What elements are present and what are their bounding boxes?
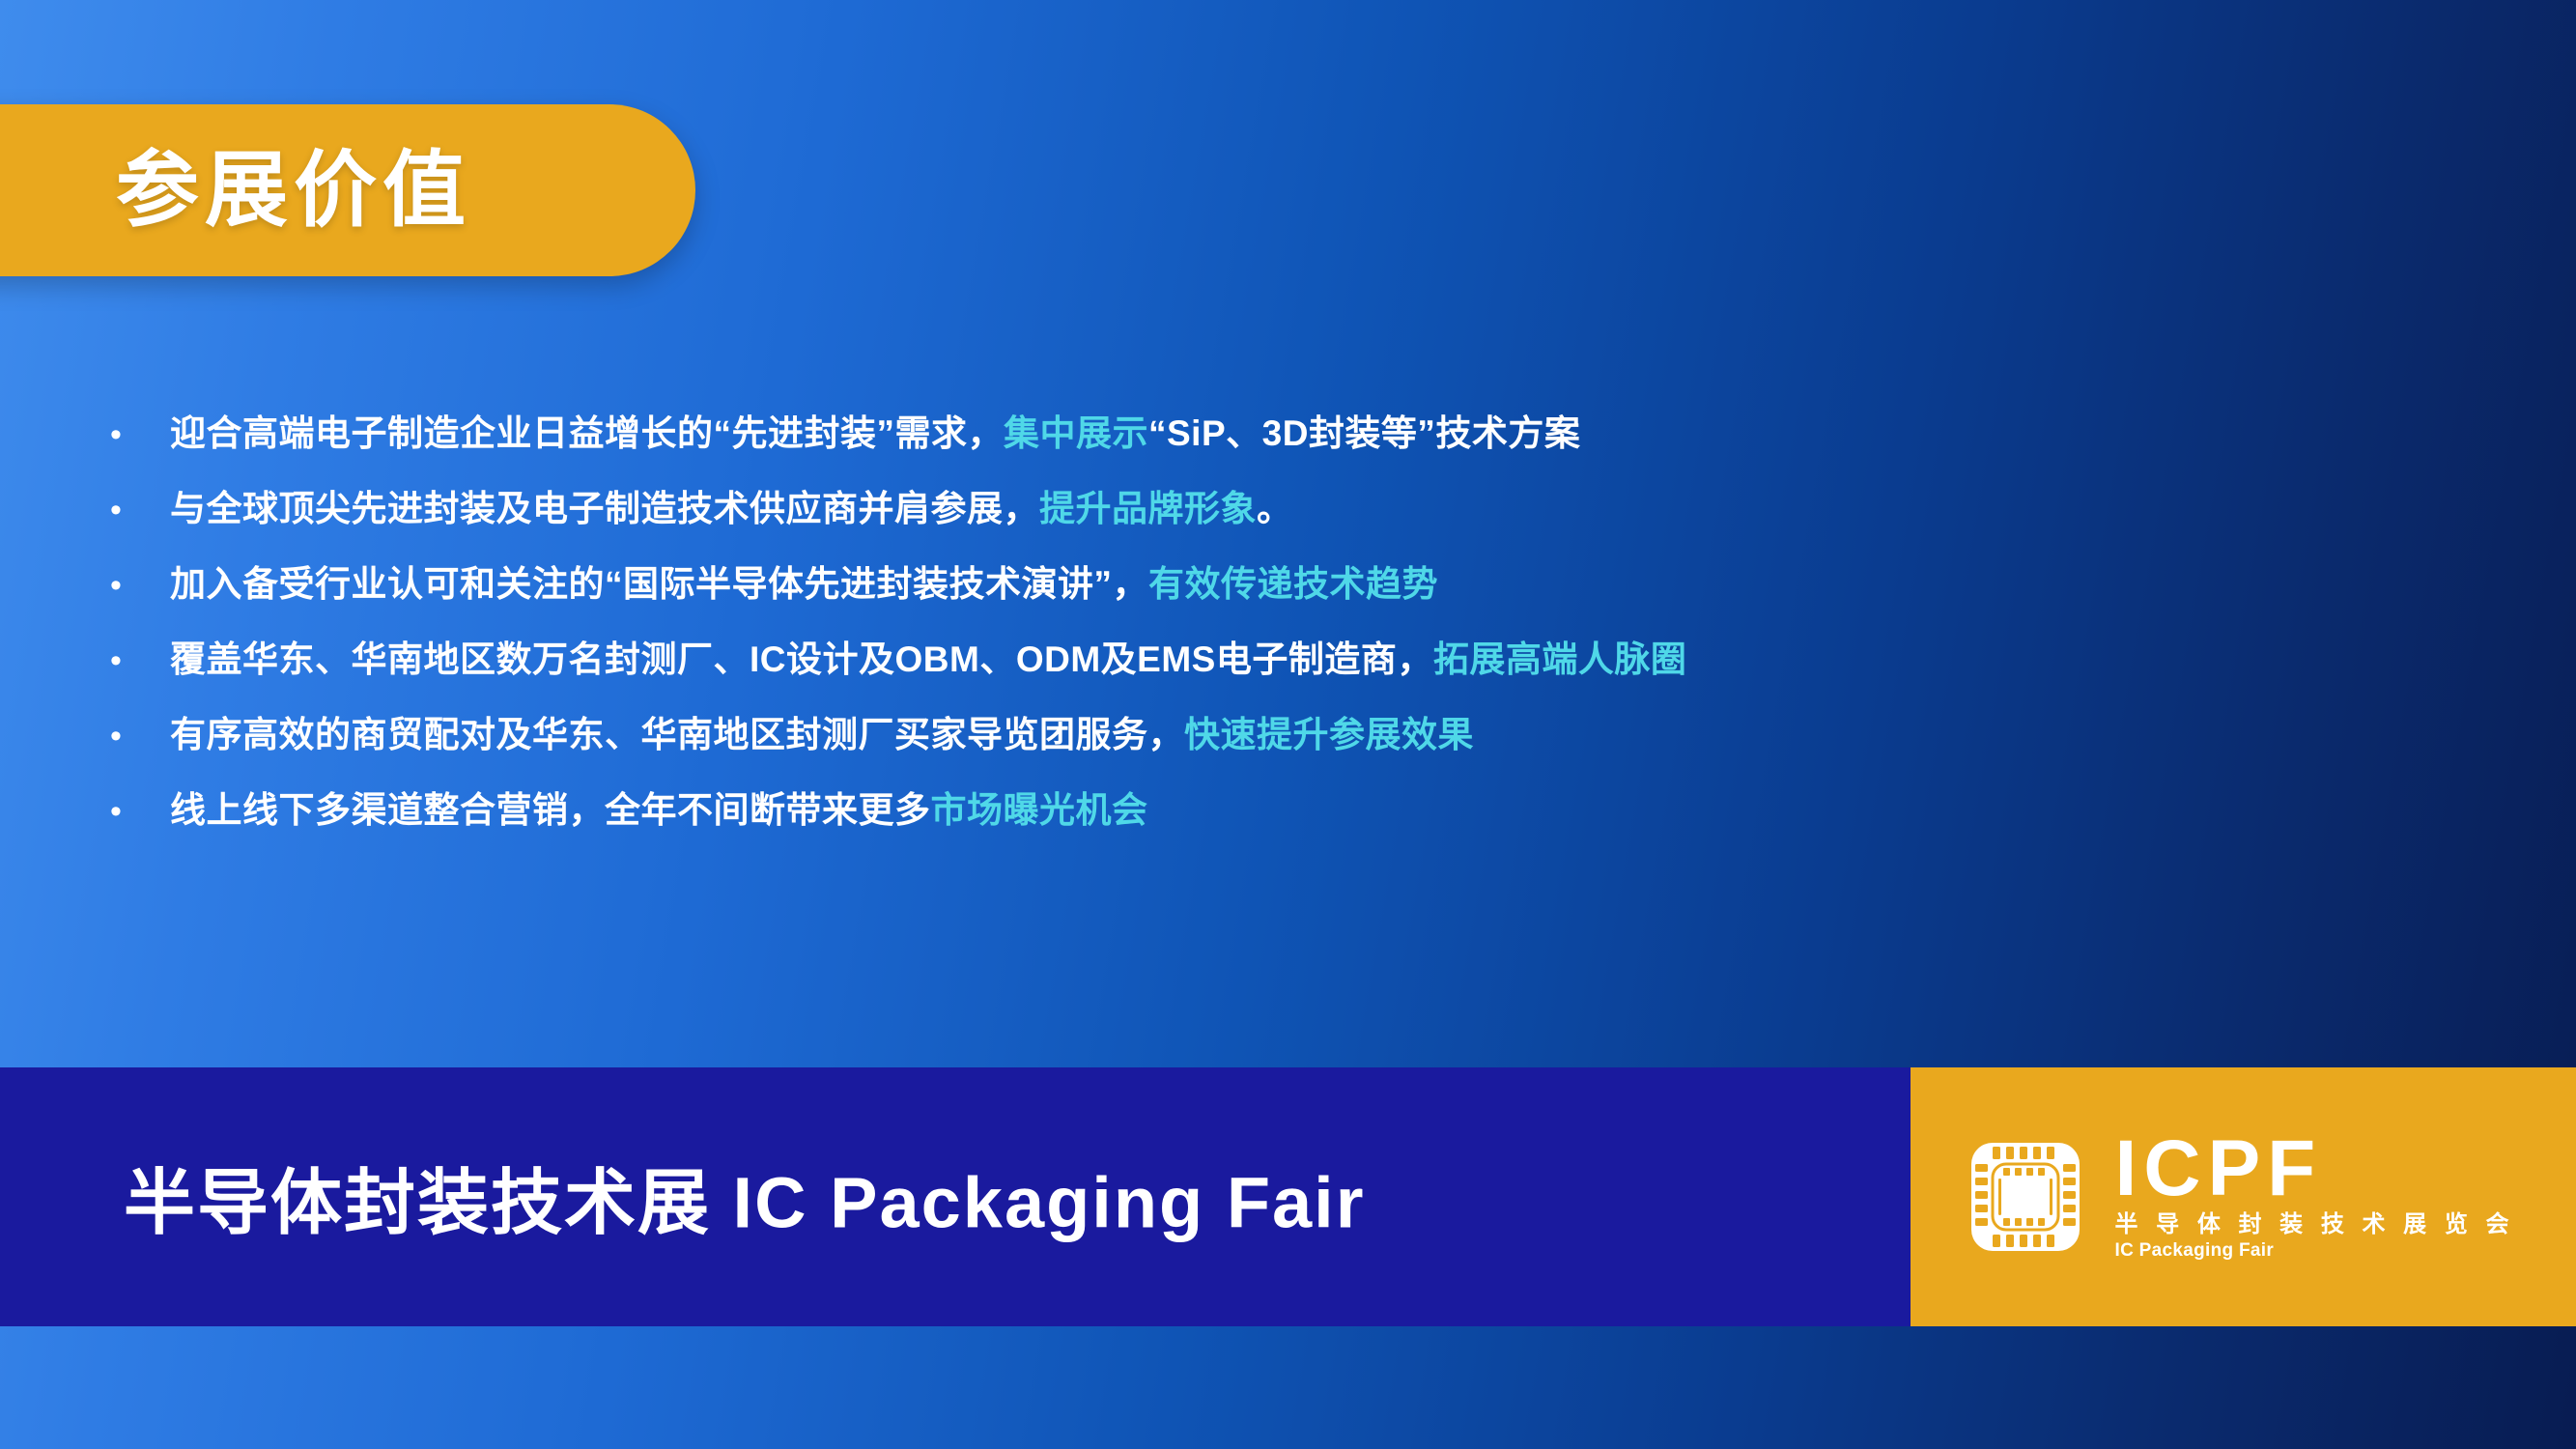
list-item: •加入备受行业认可和关注的“国际半导体先进封装技术演讲”，有效传递技术趋势 xyxy=(104,560,2355,614)
footer-title-band: 半导体封装技术展 IC Packaging Fair xyxy=(0,1067,1911,1326)
list-item: •有序高效的商贸配对及华东、华南地区封测厂买家导览团服务，快速提升参展效果 xyxy=(104,711,2355,765)
list-item: •线上线下多渠道整合营销，全年不间断带来更多市场曝光机会 xyxy=(104,786,2355,840)
list-item-text: 线上线下多渠道整合营销，全年不间断带来更多市场曝光机会 xyxy=(170,786,1148,835)
logo-name-cn: 半 导 体 封 装 技 术 展 览 会 xyxy=(2114,1212,2514,1237)
bullet-marker-icon: • xyxy=(104,494,170,526)
logo-wordmark: ICPF xyxy=(2114,1132,2514,1205)
plain-text: 有序高效的商贸配对及华东、华南地区封测厂买家导览团服务， xyxy=(170,715,1184,754)
list-item-text: 与全球顶尖先进封装及电子制造技术供应商并肩参展，提升品牌形象。 xyxy=(170,485,1293,533)
bullet-marker-icon: • xyxy=(104,795,170,828)
list-item-text: 迎合高端电子制造企业日益增长的“先进封装”需求，集中展示“SiP、3D封装等”技… xyxy=(170,410,1580,458)
plain-text: 。 xyxy=(1257,489,1293,528)
plain-text: 线上线下多渠道整合营销，全年不间断带来更多 xyxy=(170,790,931,830)
highlighted-text: 拓展高端人脉圈 xyxy=(1433,639,1687,679)
exhibitor-value-list: •迎合高端电子制造企业日益增长的“先进封装”需求，集中展示“SiP、3D封装等”… xyxy=(104,410,2355,862)
footer-bar: 半导体封装技术展 IC Packaging Fair xyxy=(0,1067,2576,1326)
page-title: 参展价值 xyxy=(116,149,471,232)
highlighted-text: 市场曝光机会 xyxy=(931,790,1148,830)
list-item: •与全球顶尖先进封装及电子制造技术供应商并肩参展，提升品牌形象。 xyxy=(104,485,2355,539)
plain-text: “SiP、3D封装等”技术方案 xyxy=(1148,413,1580,453)
footer-logo-block: ICPF 半 导 体 封 装 技 术 展 览 会 IC Packaging Fa… xyxy=(1911,1067,2576,1326)
plain-text: 加入备受行业认可和关注的“国际半导体先进封装技术演讲”， xyxy=(170,564,1148,604)
plain-text: 覆盖华东、华南地区数万名封测厂、IC设计及OBM、ODM及EMS电子制造商， xyxy=(170,639,1433,679)
highlighted-text: 有效传递技术趋势 xyxy=(1148,564,1438,604)
highlighted-text: 提升品牌形象 xyxy=(1039,489,1257,528)
footer-event-title: 半导体封装技术展 IC Packaging Fair xyxy=(124,1146,1366,1249)
list-item: •覆盖华东、华南地区数万名封测厂、IC设计及OBM、ODM及EMS电子制造商，拓… xyxy=(104,636,2355,690)
bullet-marker-icon: • xyxy=(104,720,170,753)
slide-canvas: 参展价值 •迎合高端电子制造企业日益增长的“先进封装”需求，集中展示“SiP、3… xyxy=(0,0,2576,1449)
bullet-marker-icon: • xyxy=(104,569,170,602)
chip-icon xyxy=(1964,1135,2087,1259)
plain-text: 与全球顶尖先进封装及电子制造技术供应商并肩参展， xyxy=(170,489,1039,528)
bullet-marker-icon: • xyxy=(104,644,170,677)
logo-name-en: IC Packaging Fair xyxy=(2114,1240,2514,1263)
highlighted-text: 快速提升参展效果 xyxy=(1184,715,1474,754)
list-item-text: 加入备受行业认可和关注的“国际半导体先进封装技术演讲”，有效传递技术趋势 xyxy=(170,560,1438,609)
section-title-badge: 参展价值 xyxy=(0,104,695,276)
list-item: •迎合高端电子制造企业日益增长的“先进封装”需求，集中展示“SiP、3D封装等”… xyxy=(104,410,2355,464)
list-item-text: 有序高效的商贸配对及华东、华南地区封测厂买家导览团服务，快速提升参展效果 xyxy=(170,711,1474,759)
list-item-text: 覆盖华东、华南地区数万名封测厂、IC设计及OBM、ODM及EMS电子制造商，拓展… xyxy=(170,636,1686,684)
bullet-marker-icon: • xyxy=(104,418,170,451)
highlighted-text: 集中展示 xyxy=(1004,413,1148,453)
plain-text: 迎合高端电子制造企业日益增长的“先进封装”需求， xyxy=(170,413,1004,453)
